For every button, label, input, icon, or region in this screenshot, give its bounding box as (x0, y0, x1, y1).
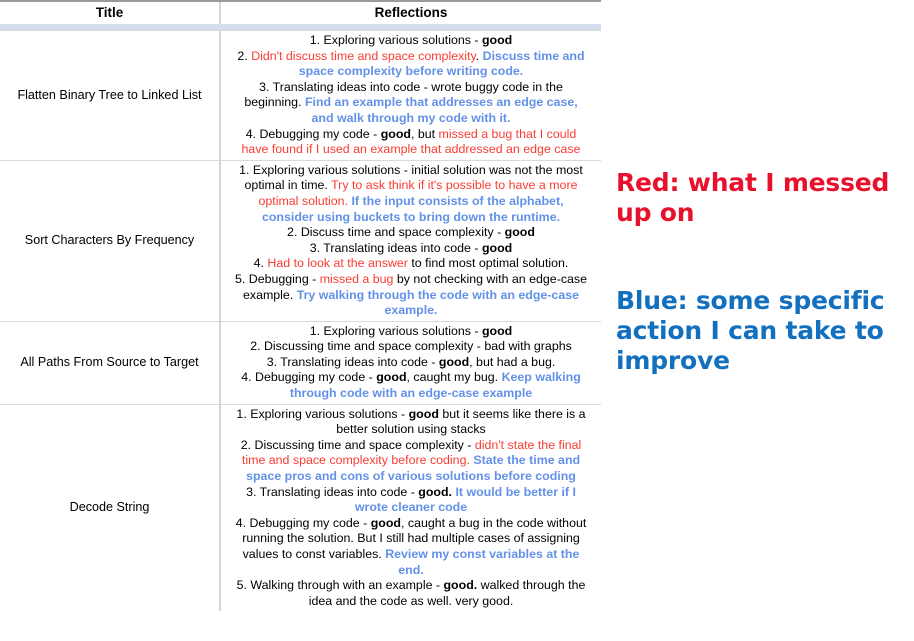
emphasis-text: good. (418, 485, 452, 499)
reflection-line: and walk through my code with it. (224, 111, 598, 127)
reflection-line: 4. Debugging my code - good, but missed … (224, 127, 598, 143)
emphasis-text: good (409, 407, 439, 421)
action-text: example. (384, 303, 437, 317)
mistake-text: missed a bug that I could (439, 127, 577, 141)
column-header-reflections[interactable]: Reflections (220, 2, 601, 24)
emphasis-text: good (482, 241, 512, 255)
reflection-line: space complexity before writing code. (224, 64, 598, 80)
reflection-line: optimal solution. If the input consists … (224, 194, 598, 210)
reflection-line: 1. Exploring various solutions - good bu… (224, 407, 598, 423)
action-text: Try walking through the code with an edg… (297, 288, 579, 302)
reflection-line: 3. Translating ideas into code - good, b… (224, 355, 598, 371)
action-text: Keep walking (502, 370, 581, 384)
reflection-line: 2. Discussing time and space complexity … (224, 339, 598, 355)
reflection-line: space pros and cons of various solutions… (224, 469, 598, 485)
action-text: end. (398, 563, 423, 577)
mistake-text: time and space complexity before coding. (242, 453, 470, 467)
emphasis-text: good (376, 370, 406, 384)
table-row: Sort Characters By Frequency 1. Explorin… (0, 160, 601, 321)
emphasis-text: good (482, 324, 512, 338)
reflection-line: 1. Exploring various solutions - initial… (224, 163, 598, 179)
action-text: It would be better if I (455, 485, 575, 499)
mistake-text: didn't state the final (475, 438, 581, 452)
reflection-line: 5. Debugging - missed a bug by not check… (224, 272, 598, 288)
reflection-line: consider using buckets to bring down the… (224, 210, 598, 226)
cell-title[interactable]: Flatten Binary Tree to Linked List (0, 31, 220, 161)
mistake-text: Try to ask think if it's possible to hav… (331, 178, 577, 192)
reflection-line: 3. Translating ideas into code - wrote b… (224, 80, 598, 96)
cell-reflections[interactable]: 1. Exploring various solutions - good2. … (220, 321, 601, 404)
action-text: wrote cleaner code (355, 500, 467, 514)
cell-reflections[interactable]: 1. Exploring various solutions - good2. … (220, 31, 601, 161)
mistake-text: have found if I used an example that add… (242, 142, 581, 156)
reflection-line: 4. Had to look at the answer to find mos… (224, 256, 598, 272)
cell-reflections[interactable]: 1. Exploring various solutions - good bu… (220, 404, 601, 611)
action-text: Review my const variables at the (385, 547, 579, 561)
reflection-line: 3. Translating ideas into code - good. I… (224, 485, 598, 501)
reflection-line: 4. Debugging my code - good, caught a bu… (224, 516, 598, 532)
reflection-line: 2. Didn't discuss time and space complex… (224, 49, 598, 65)
table-row: Decode String 1. Exploring various solut… (0, 404, 601, 611)
reflection-line: 3. Translating ideas into code - good (224, 241, 598, 257)
reflection-line: time and space complexity before coding.… (224, 453, 598, 469)
cell-title[interactable]: All Paths From Source to Target (0, 321, 220, 404)
reflection-line: optimal in time. Try to ask think if it'… (224, 178, 598, 194)
reflection-line: 2. Discuss time and space complexity - g… (224, 225, 598, 241)
emphasis-text: good (371, 516, 401, 530)
header-row: Title Reflections (0, 2, 601, 24)
reflection-line: 1. Exploring various solutions - good (224, 324, 598, 340)
color-legend: Red: what I messed up on Blue: some spec… (616, 168, 906, 376)
action-text: Find an example that addresses an edge c… (305, 95, 578, 109)
emphasis-text: good. (443, 578, 477, 592)
reflection-line: 1. Exploring various solutions - good (224, 33, 598, 49)
reflection-line: 4. Debugging my code - good, caught my b… (224, 370, 598, 386)
emphasis-text: good (381, 127, 411, 141)
emphasis-text: good (505, 225, 535, 239)
reflection-line: through code with an edge-case example (224, 386, 598, 402)
reflection-line: 5. Walking through with an example - goo… (224, 578, 598, 594)
mistake-text: optimal solution. (258, 194, 348, 208)
reflection-line: better solution using stacks (224, 422, 598, 438)
mistake-text: missed a bug (320, 272, 394, 286)
cell-reflections[interactable]: 1. Exploring various solutions - initial… (220, 160, 601, 321)
reflection-line: values to const variables. Review my con… (224, 547, 598, 563)
reflection-line: example. (224, 303, 598, 319)
legend-blue-label: Blue: some specific action I can take to… (616, 286, 906, 376)
reflection-line: wrote cleaner code (224, 500, 598, 516)
reflections-table: Title Reflections Flatten Binary Tree to… (0, 2, 601, 611)
emphasis-text: good (439, 355, 469, 369)
column-header-title[interactable]: Title (0, 2, 220, 24)
reflection-line: beginning. Find an example that addresse… (224, 95, 598, 111)
table-row: Flatten Binary Tree to Linked List 1. Ex… (0, 31, 601, 161)
reflection-line: example. Try walking through the code wi… (224, 288, 598, 304)
table-body: Flatten Binary Tree to Linked List 1. Ex… (0, 31, 601, 612)
table-header: Title Reflections (0, 2, 601, 31)
table-row: All Paths From Source to Target 1. Explo… (0, 321, 601, 404)
reflection-line: running the solution. But I still had mu… (224, 531, 598, 547)
reflection-line: 2. Discussing time and space complexity … (224, 438, 598, 454)
action-text: consider using buckets to bring down the… (262, 210, 560, 224)
action-text: State the time and (473, 453, 580, 467)
reflection-line: have found if I used an example that add… (224, 142, 598, 158)
mistake-text: Didn't discuss time and space complexity (251, 49, 476, 63)
action-text: and walk through my code with it. (312, 111, 511, 125)
reflection-line: end. (224, 563, 598, 579)
mistake-text: Had to look at the answer (267, 256, 408, 270)
cell-title[interactable]: Sort Characters By Frequency (0, 160, 220, 321)
legend-red-label: Red: what I messed up on (616, 168, 906, 228)
action-text: through code with an edge-case example (290, 386, 532, 400)
emphasis-text: good (482, 33, 512, 47)
spreadsheet-table-container: Title Reflections Flatten Binary Tree to… (0, 0, 601, 611)
action-text: If the input consists of the alphabet, (351, 194, 563, 208)
action-text: space pros and cons of various solutions… (246, 469, 576, 483)
action-text: space complexity before writing code. (299, 64, 523, 78)
reflection-line: idea and the code as well. very good. (224, 594, 598, 610)
action-text: Discuss time and (483, 49, 585, 63)
cell-title[interactable]: Decode String (0, 404, 220, 611)
